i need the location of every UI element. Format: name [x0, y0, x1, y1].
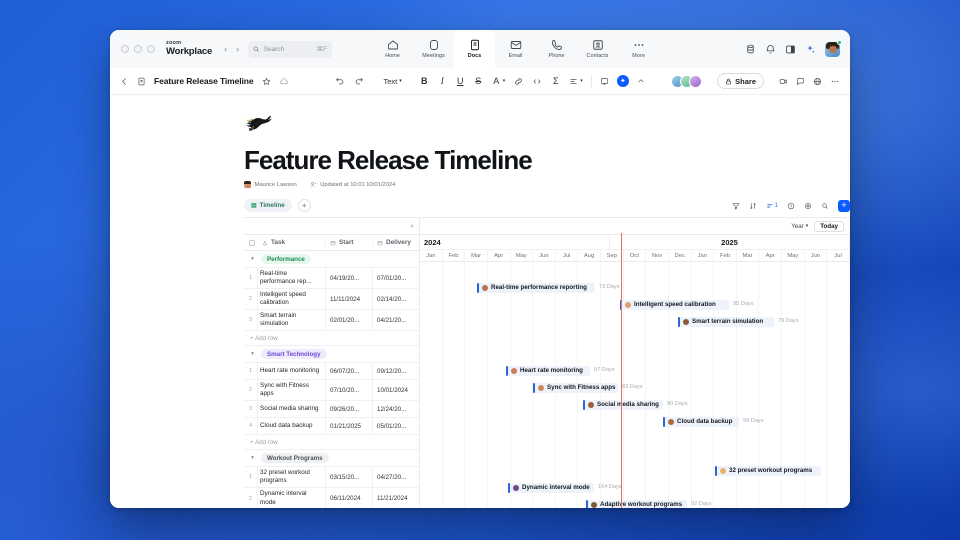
italic-button[interactable]: I: [438, 76, 447, 86]
comment-icon[interactable]: [600, 77, 609, 86]
group-chip: Smart Technology: [261, 349, 327, 359]
document-meta: Maurice Lawson Updated at 10:01 10/01/20…: [244, 181, 850, 188]
bar-duration: 99 Days: [743, 418, 764, 424]
collapse-left-icon[interactable]: «: [244, 218, 420, 234]
month-oct-2024: Oct: [624, 250, 647, 261]
contacts-icon: [591, 39, 604, 51]
table-row[interactable]: 2 Sync with Fitness apps 07/10/20... 10/…: [244, 380, 420, 401]
calendar-icon: [330, 240, 336, 246]
gantt-bar[interactable]: Dynamic interval mode: [508, 483, 594, 493]
month-apr-2024: Apr: [488, 250, 511, 261]
gantt-rows: Real-time performance reporting 73 Days …: [420, 262, 850, 508]
chat-icon[interactable]: [796, 77, 805, 86]
text-style-label: Text: [384, 77, 398, 86]
cell-task[interactable]: Heart rate monitoring: [257, 363, 325, 379]
cell-task[interactable]: Dynamic interval mode: [257, 488, 325, 508]
gantt-group-spacer: [420, 445, 850, 462]
column-header-delivery[interactable]: Delivery: [372, 239, 419, 246]
bar-handle[interactable]: [583, 400, 585, 410]
cell-task[interactable]: Real-time performance rep...: [257, 268, 325, 288]
gantt-bar[interactable]: Social media sharing: [583, 400, 663, 410]
nav-item-more[interactable]: More: [618, 30, 659, 68]
toolbar-divider: [591, 75, 592, 87]
column-label-task: Task: [271, 239, 285, 246]
sort-icon[interactable]: [749, 202, 757, 210]
table-row[interactable]: 3 Social media sharing 09/26/20... 12/24…: [244, 401, 420, 418]
month-feb-2024: Feb: [443, 250, 466, 261]
ai-icon[interactable]: ✦: [617, 75, 629, 87]
row-number: 2: [244, 289, 257, 309]
link-icon[interactable]: [514, 77, 523, 86]
author-meta: Maurice Lawson: [244, 181, 297, 188]
history-nav[interactable]: ‹ ›: [224, 44, 239, 54]
nav-item-home[interactable]: Home: [372, 30, 413, 68]
share-label: Share: [735, 77, 756, 86]
nav-label-contacts: Contacts: [587, 53, 609, 59]
text-style-dropdown[interactable]: Text ▾: [384, 77, 402, 86]
group-chip: Workout Programs: [261, 453, 329, 463]
cell-start[interactable]: 02/01/20...: [325, 310, 372, 330]
row-number: 3: [244, 310, 257, 330]
format-group: B I U S A▾ Σ ▾: [420, 76, 583, 86]
eagle-emoji[interactable]: [244, 109, 278, 135]
chevron-down-icon: ▾: [806, 223, 809, 229]
assignee-avatar: [683, 319, 689, 325]
gantt-bar[interactable]: Intelligent speed calibration: [620, 300, 729, 310]
nav-label-email: Email: [509, 53, 523, 59]
grid-header-row: Task Start Delivery: [244, 234, 420, 251]
history-icon[interactable]: [787, 202, 795, 210]
table-row[interactable]: 1 Heart rate monitoring 06/07/20... 09/1…: [244, 363, 420, 380]
cell-start[interactable]: 03/15/20...: [325, 467, 372, 487]
globe-icon[interactable]: [813, 77, 822, 86]
brand-workplace: Workplace: [166, 47, 212, 57]
assignee-avatar: [668, 419, 674, 425]
updated-text: Updated at 10:01 10/01/2024: [320, 182, 395, 188]
bar-label: Real-time performance reporting: [491, 284, 587, 291]
undo-redo-group: [335, 76, 364, 86]
nav-item-email[interactable]: Email: [495, 30, 536, 68]
gantt-row: Dynamic interval mode 164 Days: [420, 479, 850, 496]
chevron-down-icon: ▾: [580, 78, 583, 84]
month-apr-2025: Apr: [759, 250, 782, 261]
month-jul-2024: Jul: [556, 250, 579, 261]
align-icon: [569, 77, 578, 86]
email-icon: [509, 39, 522, 51]
bar-handle[interactable]: [663, 417, 665, 427]
today-button[interactable]: Today: [814, 221, 844, 232]
document-title-toolbar[interactable]: Feature Release Timeline: [154, 76, 254, 86]
column-header-task[interactable]: Task: [260, 239, 325, 246]
chevron-down-icon: ▾: [399, 78, 402, 84]
bar-duration: 92 Days: [691, 501, 712, 507]
cell-task[interactable]: Social media sharing: [257, 401, 325, 417]
group-chip: Performance: [261, 254, 311, 264]
month-jan-2024: Jan: [420, 250, 443, 261]
gantt-row: Real-time performance reporting 73 Days: [420, 279, 850, 296]
collaborator-avatars[interactable]: [671, 75, 702, 88]
row-number: 1: [244, 363, 257, 379]
month-sep-2024: Sep: [601, 250, 624, 261]
document-body: Feature Release Timeline Maurice Lawson …: [110, 95, 850, 508]
gantt-row: Social media sharing 90 Days: [420, 396, 850, 413]
group-icon[interactable]: 1: [766, 202, 778, 210]
bar-handle[interactable]: [508, 483, 510, 493]
bar-label: Intelligent speed calibration: [634, 301, 716, 308]
cell-delivery[interactable]: 05/01/20...: [372, 418, 419, 434]
row-number: 2: [244, 380, 257, 400]
window-controls[interactable]: [118, 45, 155, 53]
tab-timeline[interactable]: ▤ Timeline: [244, 199, 292, 212]
row-number: 3: [244, 401, 257, 417]
cell-delivery[interactable]: 11/21/2024: [372, 488, 419, 508]
row-number: 1: [244, 268, 257, 288]
gantt-row: Cloud data backup 99 Days: [420, 413, 850, 430]
cell-task[interactable]: Sync with Fitness apps: [257, 380, 325, 400]
underline-button[interactable]: U: [456, 76, 465, 86]
row-number: 2: [244, 488, 257, 508]
bar-label: Dynamic interval mode: [522, 484, 590, 491]
nav-label-docs: Docs: [468, 53, 482, 59]
cell-start[interactable]: 09/26/20...: [325, 401, 372, 417]
meetings-icon: [427, 39, 440, 51]
select-all-checkbox[interactable]: [244, 240, 260, 246]
bold-button[interactable]: B: [420, 76, 429, 86]
bar-duration: 90 Days: [667, 401, 688, 407]
page-title: Feature Release Timeline: [244, 147, 850, 173]
gantt-controls: Year ▾ Today: [420, 218, 850, 234]
gantt-year-header: 2024 2025: [420, 234, 850, 249]
app-brand: zoom Workplace: [166, 41, 212, 56]
window-minimize-button[interactable]: [134, 45, 142, 53]
zoom-workplace-window: zoom Workplace ‹ › Search ⌘F Home Meetin…: [110, 30, 850, 508]
bar-handle[interactable]: [477, 283, 479, 293]
bar-handle[interactable]: [678, 317, 680, 327]
table-row[interactable]: 1 32 preset workout programs 03/15/20...…: [244, 467, 420, 488]
timeline-block: ▤ Timeline + 1 +: [110, 199, 850, 508]
bell-icon[interactable]: [765, 44, 776, 55]
undo-icon[interactable]: [335, 76, 345, 86]
cell-delivery[interactable]: 07/01/20...: [372, 268, 419, 288]
month-dec-2024: Dec: [669, 250, 692, 261]
search-icon: [253, 46, 260, 53]
window-maximize-button[interactable]: [147, 45, 155, 53]
zoom-level-dropdown[interactable]: Year ▾: [791, 223, 808, 230]
nav-item-phone[interactable]: Phone: [536, 30, 577, 68]
ai-sparkle-icon[interactable]: [805, 44, 816, 55]
chevron-down-icon: ▾: [503, 78, 506, 84]
table-row[interactable]: 1 Real-time performance rep... 04/19/20.…: [244, 268, 420, 289]
assignee-avatar: [482, 285, 488, 291]
app-bar-right: [745, 42, 842, 57]
doc-icon[interactable]: [137, 77, 146, 86]
timeline-view-tabs: ▤ Timeline + 1 +: [244, 199, 850, 212]
bar-label: 32 preset workout programs: [729, 467, 812, 474]
bar-duration: 79 Days: [778, 318, 799, 324]
nav-label-more: More: [632, 53, 645, 59]
gantt-row: Sync with Fitness apps 83 Days: [420, 379, 850, 396]
cell-delivery[interactable]: 10/01/2024: [372, 380, 419, 400]
today-marker: [621, 233, 622, 508]
group-header-performance[interactable]: ▼ Performance: [244, 251, 420, 268]
window-close-button[interactable]: [121, 45, 129, 53]
gantt-row: 32 preset workout programs: [420, 462, 850, 479]
bar-duration: 83 Days: [622, 384, 643, 390]
cell-start[interactable]: 06/11/2024: [325, 488, 372, 508]
bar-duration: 97 Days: [594, 367, 615, 373]
chevron-down-icon[interactable]: ▼: [250, 256, 256, 262]
nav-item-docs[interactable]: Docs: [454, 30, 495, 68]
add-row-button[interactable]: + Add row: [244, 435, 420, 450]
timeline-icon: ▤: [251, 202, 257, 209]
redo-icon[interactable]: [354, 76, 364, 86]
bar-duration: 73 Days: [599, 284, 620, 290]
document-toolbar: Feature Release Timeline Text ▾ B I U S …: [110, 68, 850, 95]
filter-icon[interactable]: [732, 202, 740, 210]
tab-timeline-label: Timeline: [260, 202, 285, 209]
add-view-button[interactable]: +: [298, 199, 311, 212]
assignee-avatar: [625, 302, 631, 308]
cell-start[interactable]: 07/10/20...: [325, 380, 372, 400]
avatar[interactable]: [689, 75, 702, 88]
document-header: Feature Release Timeline Maurice Lawson …: [110, 109, 850, 188]
gantt-row: Intelligent speed calibration 95 Days: [420, 296, 850, 313]
bar-handle[interactable]: [533, 383, 535, 393]
gantt-bar[interactable]: Sync with Fitness apps: [533, 383, 618, 393]
gantt-row: Smart terrain simulation 79 Days: [420, 313, 850, 330]
cell-start[interactable]: 04/19/20...: [325, 268, 372, 288]
bar-label: Cloud data backup: [677, 418, 732, 425]
group-header-workout-programs[interactable]: ▼ Workout Programs: [244, 450, 420, 467]
month-aug-2024: Aug: [578, 250, 601, 261]
group-count: 1: [775, 203, 778, 209]
cell-delivery[interactable]: 09/12/20...: [372, 363, 419, 379]
ellipsis-icon[interactable]: [830, 77, 840, 86]
add-record-button[interactable]: +: [838, 200, 850, 212]
app-nav: Home Meetings Docs Email Phone Contacts: [372, 30, 659, 68]
month-mar-2024: Mar: [465, 250, 488, 261]
timeline-grid-pane: « Task Start: [244, 218, 420, 508]
gantt-addrow-spacer: [420, 430, 850, 445]
cell-start[interactable]: 01/21/2025: [325, 418, 372, 434]
calendar-icon: [377, 240, 383, 246]
nav-item-contacts[interactable]: Contacts: [577, 30, 618, 68]
nav-back-icon[interactable]: ‹: [224, 44, 227, 54]
group-header-smart-technology[interactable]: ▼ Smart Technology: [244, 346, 420, 363]
gantt-row: Adaptive workout programs 92 Days: [420, 496, 850, 508]
month-jun-2024: Jun: [533, 250, 556, 261]
chevron-down-icon[interactable]: ▼: [250, 455, 256, 461]
gantt-group-spacer: [420, 345, 850, 362]
month-mar-2025: Mar: [737, 250, 760, 261]
table-row[interactable]: 2 Dynamic interval mode 06/11/2024 11/21…: [244, 488, 420, 508]
add-row-button[interactable]: + Add row: [244, 331, 420, 346]
bar-handle[interactable]: [506, 366, 508, 376]
app-top-bar: zoom Workplace ‹ › Search ⌘F Home Meetin…: [110, 30, 850, 68]
user-avatar[interactable]: [825, 42, 840, 57]
edit-history-icon: [310, 181, 317, 188]
text-color-button[interactable]: A▾: [492, 76, 506, 86]
gantt-row: Heart rate monitoring 97 Days: [420, 362, 850, 379]
whiteboard-icon[interactable]: [745, 44, 756, 55]
month-feb-2025: Feb: [714, 250, 737, 261]
updated-meta: Updated at 10:01 10/01/2024: [310, 181, 396, 188]
align-button[interactable]: ▾: [569, 77, 583, 86]
text-color-label: A: [492, 76, 501, 86]
code-icon[interactable]: [532, 77, 542, 86]
bar-label: Adaptive workout programs: [600, 501, 682, 508]
cell-delivery[interactable]: 12/24/20...: [372, 401, 419, 417]
settings-icon[interactable]: [804, 202, 812, 210]
nav-label-home: Home: [385, 53, 400, 59]
search-icon[interactable]: [821, 202, 829, 210]
row-number: 1: [244, 467, 257, 487]
doc-right-icons: [779, 77, 840, 86]
assignee-avatar: [591, 502, 597, 508]
gantt-bar[interactable]: Real-time performance reporting: [477, 283, 595, 293]
month-jul-2025: Jul: [827, 250, 850, 261]
table-row[interactable]: 2 Intelligent speed calibration 11/11/20…: [244, 289, 420, 310]
gantt-bar[interactable]: Adaptive workout programs: [586, 500, 687, 509]
year-label-2024: 2024: [420, 235, 610, 249]
home-icon: [386, 39, 399, 51]
assignee-avatar: [538, 385, 544, 391]
docs-icon: [468, 39, 481, 51]
video-icon[interactable]: [779, 77, 788, 86]
gantt-addrow-spacer: [420, 330, 850, 345]
phone-icon: [550, 39, 563, 51]
assignee-avatar: [513, 485, 519, 491]
bar-label: Heart rate monitoring: [520, 367, 583, 374]
gantt-month-header: Jan Feb Mar Apr May Jun Jul Aug Sep Oct …: [420, 249, 850, 262]
month-jan-2025: Jan: [692, 250, 715, 261]
gantt-bar[interactable]: Smart terrain simulation: [678, 317, 774, 327]
author-avatar: [244, 181, 251, 188]
nav-forward-icon[interactable]: ›: [236, 44, 239, 54]
cell-start[interactable]: 11/11/2024: [325, 289, 372, 309]
chevron-up-icon[interactable]: [637, 77, 645, 85]
month-nov-2024: Nov: [646, 250, 669, 261]
row-number: 4: [244, 418, 257, 434]
share-button[interactable]: Share: [717, 73, 764, 89]
search-shortcut: ⌘F: [317, 45, 327, 53]
year-label-2025: 2025: [610, 235, 850, 249]
month-may-2024: May: [511, 250, 534, 261]
gantt-bar[interactable]: 32 preset workout programs: [715, 466, 821, 476]
gantt-group-spacer: [420, 262, 850, 279]
more-icon: [632, 39, 645, 51]
table-row[interactable]: 3 Smart terrain simulation 02/01/20... 0…: [244, 310, 420, 331]
cell-task[interactable]: 32 preset workout programs: [257, 467, 325, 487]
bar-handle[interactable]: [586, 500, 588, 509]
cell-start[interactable]: 06/07/20...: [325, 363, 372, 379]
column-header-start[interactable]: Start: [325, 239, 372, 246]
nav-label-phone: Phone: [549, 53, 565, 59]
lock-icon: [725, 78, 732, 85]
bar-handle[interactable]: [715, 466, 717, 476]
assignee-avatar: [511, 368, 517, 374]
text-icon: [262, 240, 268, 246]
nav-item-meetings[interactable]: Meetings: [413, 30, 454, 68]
gantt-bar[interactable]: Heart rate monitoring: [506, 366, 590, 376]
column-label-start: Start: [339, 239, 354, 246]
search-placeholder: Search: [264, 46, 313, 53]
bar-duration: 95 Days: [733, 301, 754, 307]
month-may-2025: May: [782, 250, 805, 261]
cell-task[interactable]: Intelligent speed calibration: [257, 289, 325, 309]
month-jun-2025: Jun: [805, 250, 828, 261]
cell-task[interactable]: Cloud data backup: [257, 418, 325, 434]
bar-label: Sync with Fitness apps: [547, 384, 615, 391]
timeline-toolbar: 1 +: [732, 200, 850, 212]
assignee-avatar: [720, 468, 726, 474]
back-arrow-icon[interactable]: [120, 77, 129, 86]
chevron-down-icon[interactable]: ▼: [250, 351, 256, 357]
zoom-level-label: Year: [791, 223, 804, 230]
table-row[interactable]: 4 Cloud data backup 01/21/2025 05/01/20.…: [244, 418, 420, 435]
panel-icon[interactable]: [785, 44, 796, 55]
cell-task[interactable]: Smart terrain simulation: [257, 310, 325, 330]
cell-delivery[interactable]: 04/21/20...: [372, 310, 419, 330]
gantt-pane: Year ▾ Today 2024 2025 Jan Feb: [420, 218, 850, 508]
gantt-bar[interactable]: Cloud data backup: [663, 417, 739, 427]
timeline-frame: « Task Start: [244, 217, 850, 508]
assignee-avatar: [588, 402, 594, 408]
cell-delivery[interactable]: 02/14/20...: [372, 289, 419, 309]
cloud-sync-icon: [279, 77, 289, 86]
strikethrough-button[interactable]: S: [474, 76, 483, 86]
bar-duration: 164 Days: [598, 484, 622, 490]
star-icon[interactable]: [262, 77, 271, 86]
column-label-delivery: Delivery: [386, 239, 411, 246]
nav-label-meetings: Meetings: [422, 53, 445, 59]
author-name: Maurice Lawson: [255, 182, 297, 188]
presence-indicator: [837, 40, 842, 45]
cell-delivery[interactable]: 04/27/20...: [372, 467, 419, 487]
sigma-icon[interactable]: Σ: [551, 76, 560, 86]
search-input[interactable]: Search ⌘F: [248, 41, 332, 58]
bar-label: Smart terrain simulation: [692, 318, 763, 325]
bar-label: Social media sharing: [597, 401, 659, 408]
